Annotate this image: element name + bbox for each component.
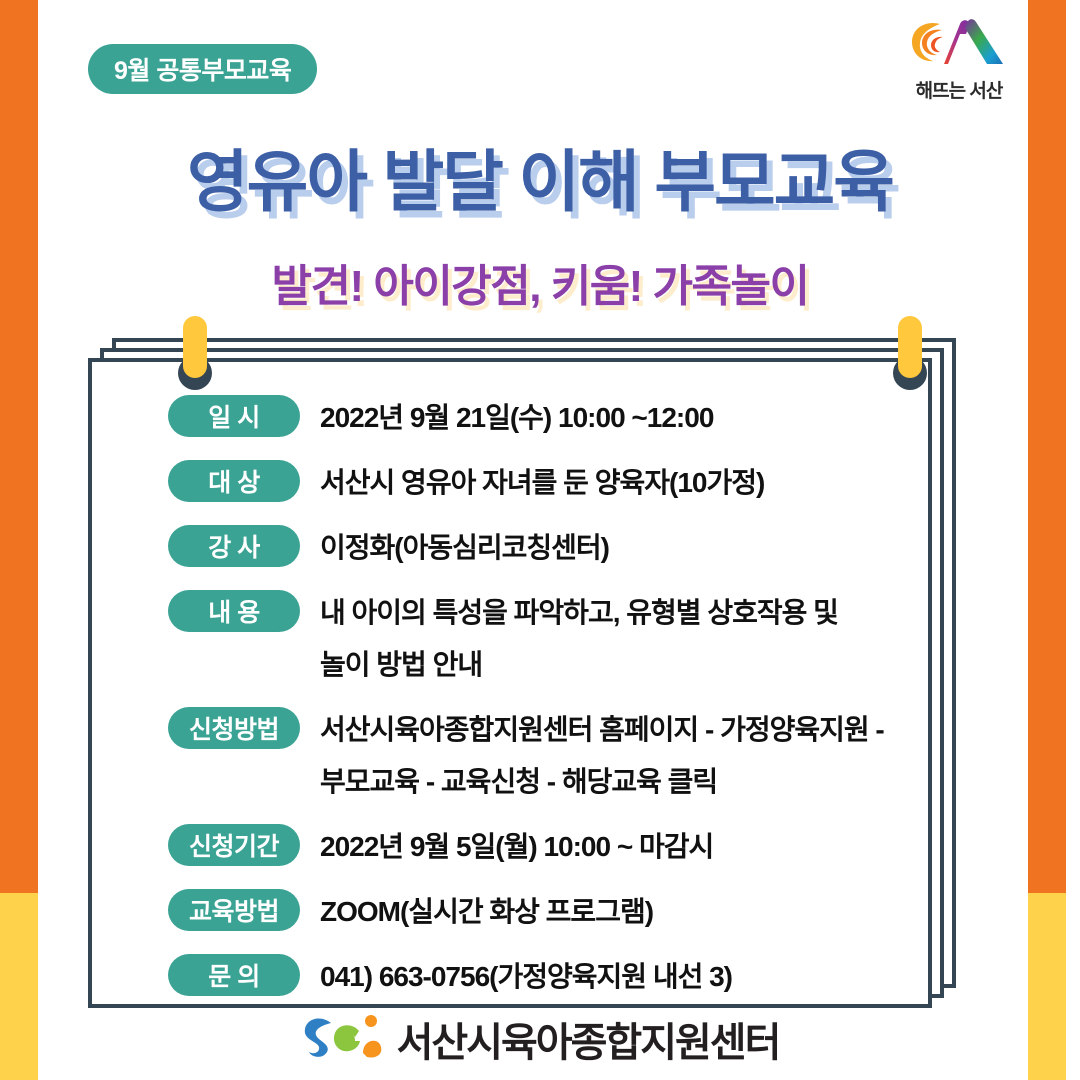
city-logo: 해뜨는 서산 <box>896 14 1022 110</box>
info-label-apply-period: 신청기간 <box>168 824 300 866</box>
info-row-contact: 문 의 041) 663-0756(가정양육지원 내선 3) <box>168 951 968 1003</box>
info-label-instructor: 강 사 <box>168 525 300 567</box>
info-value-audience: 서산시 영유아 자녀를 둔 양육자(10가정) <box>320 457 764 509</box>
page-subtitle: 발견! 아이강점, 키움! 가족놀이 <box>0 250 1080 314</box>
info-value-delivery: ZOOM(실시간 화상 프로그램) <box>320 886 653 938</box>
footer-logo: 서산시육아종합지원센터 <box>0 1006 1080 1072</box>
pin-right-icon <box>893 316 927 390</box>
info-value-date: 2022년 9월 21일(수) 10:00 ~12:00 <box>320 392 713 444</box>
info-value-apply-method: 서산시육아종합지원센터 홈페이지 - 가정양육지원 - 부모교육 - 교육신청 … <box>320 704 884 808</box>
info-row-instructor: 강 사 이정화(아동심리코칭센터) <box>168 522 968 574</box>
info-label-content: 내 용 <box>168 590 300 632</box>
poster-canvas: 9월 공통부모교육 <box>0 0 1080 1080</box>
info-label-contact: 문 의 <box>168 954 300 996</box>
sun-mountain-logo-icon <box>904 14 1014 74</box>
month-badge: 9월 공통부모교육 <box>88 44 317 94</box>
info-row-delivery: 교육방법 ZOOM(실시간 화상 프로그램) <box>168 886 968 938</box>
info-row-apply-method: 신청방법 서산시육아종합지원센터 홈페이지 - 가정양육지원 - 부모교육 - … <box>168 704 968 808</box>
page-title: 영유아 발달 이해 부모교육 <box>0 128 1080 225</box>
info-value-apply-period: 2022년 9월 5일(월) 10:00 ~ 마감시 <box>320 821 713 873</box>
info-row-date: 일 시 2022년 9월 21일(수) 10:00 ~12:00 <box>168 392 968 444</box>
info-value-instructor: 이정화(아동심리코칭센터) <box>320 522 609 574</box>
info-row-apply-period: 신청기간 2022년 9월 5일(월) 10:00 ~ 마감시 <box>168 821 968 873</box>
info-value-content: 내 아이의 특성을 파악하고, 유형별 상호작용 및 놀이 방법 안내 <box>320 587 838 691</box>
info-list: 일 시 2022년 9월 21일(수) 10:00 ~12:00 대 상 서산시… <box>168 392 968 1016</box>
info-label-delivery: 교육방법 <box>168 889 300 931</box>
info-label-audience: 대 상 <box>168 460 300 502</box>
info-label-apply-method: 신청방법 <box>168 707 300 749</box>
sc-center-logo-icon <box>301 1013 389 1065</box>
info-row-content: 내 용 내 아이의 특성을 파악하고, 유형별 상호작용 및 놀이 방법 안내 <box>168 587 968 691</box>
info-row-audience: 대 상 서산시 영유아 자녀를 둔 양육자(10가정) <box>168 457 968 509</box>
info-label-date: 일 시 <box>168 395 300 437</box>
pin-left-body <box>183 316 207 378</box>
pin-right-body <box>898 316 922 378</box>
info-value-contact: 041) 663-0756(가정양육지원 내선 3) <box>320 951 732 1003</box>
city-logo-label: 해뜨는 서산 <box>916 76 1003 103</box>
pin-left-icon <box>178 316 212 390</box>
footer-logo-label: 서산시육아종합지원센터 <box>397 1010 780 1068</box>
